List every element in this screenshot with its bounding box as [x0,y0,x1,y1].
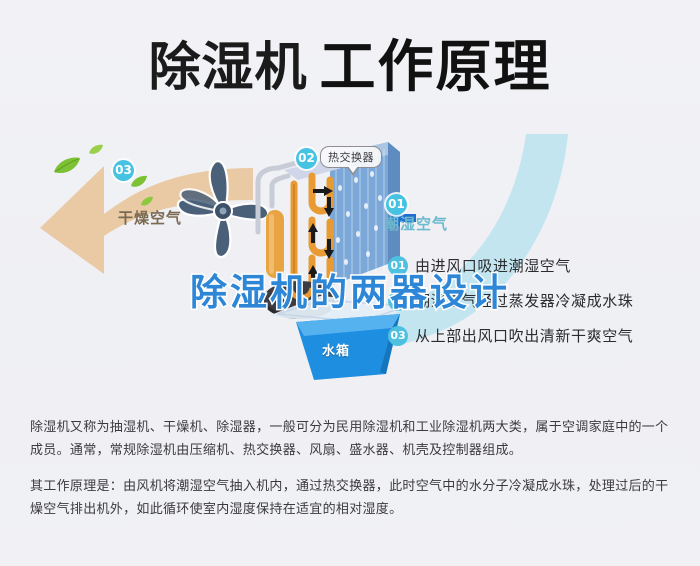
step-text-03: 从上部出风口吹出清新干爽空气 [415,325,633,346]
paragraph-1: 除湿机又称为抽湿机、干燥机、除湿器，一般可分为民用除湿机和工业除湿机两大类，属于… [30,416,675,462]
diagram-badge-02: 02 [296,148,317,169]
list-item: 03 从上部出风口吹出清新干爽空气 [388,318,688,353]
heat-exchanger-tooltip: 热交换器 [320,146,382,168]
leaf-icon-large [52,156,82,180]
paragraph-2: 其工作原理是：由风机将潮湿空气抽入机内，通过热交换器，此时空气中的水分子冷凝成水… [30,475,675,521]
title-sub-text: 工作原理 [320,35,552,100]
page-title: 除湿机工作原理 [0,22,700,103]
title-main-text: 除湿机 [148,38,307,98]
watermark-overlay-text: 除湿机的两器设计 [0,262,700,316]
leaf-icon-small [88,141,104,160]
water-tank-label: 水箱 [322,340,350,359]
step-badge-03: 03 [388,326,408,346]
dehumidifier-diagram: 水箱 03 02 01 干燥空气 潮湿空气 热交换器 01 由进风口吸进潮湿空气… [0,108,700,398]
dry-air-label: 干燥空气 [118,207,182,228]
humid-air-label: 潮湿空气 [384,213,448,234]
article-body: 除湿机又称为抽湿机、干燥机、除湿器，一般可分为民用除湿机和工业除湿机两大类，属于… [30,416,675,534]
diagram-badge-01: 01 [386,194,407,215]
leaf-icon-mid [130,174,148,193]
infographic-page: 除湿机工作原理 [0,0,700,566]
diagram-badge-03: 03 [113,160,134,181]
